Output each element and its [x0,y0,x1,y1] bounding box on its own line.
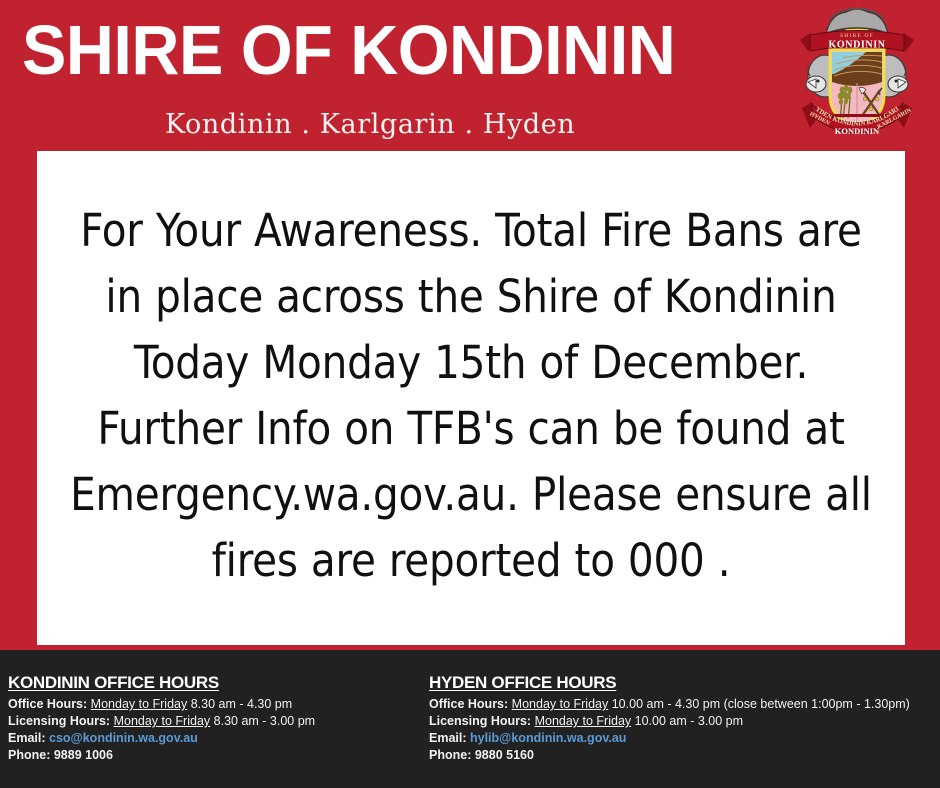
hyden-email-link[interactable]: hylib@kondinin.wa.gov.au [470,731,626,745]
kondinin-licensing-days: Monday to Friday [114,714,211,728]
notice-poster: SHIRE OF KONDININ Kondinin . Karlgarin .… [0,0,940,788]
kondinin-phone-number: 9889 1006 [54,748,113,762]
svg-text:KONDININ: KONDININ [835,126,880,136]
hyden-licensing-label: Licensing Hours: [429,714,531,728]
hyden-phone-label: Phone: [429,748,471,762]
kondinin-office-heading: KONDININ OFFICE HOURS [8,672,425,693]
hyden-email-label: Email: [429,731,467,745]
kondinin-licensing-hours-line: Licensing Hours: Monday to Friday 8.30 a… [8,713,425,730]
kondinin-email-line: Email: cso@kondinin.wa.gov.au [8,730,425,747]
kondinin-email-link[interactable]: cso@kondinin.wa.gov.au [49,731,198,745]
hyden-office-heading: HYDEN OFFICE HOURS [429,672,940,693]
hyden-licensing-days: Monday to Friday [535,714,632,728]
crest-top-banner: SHIRE OF KONDININ [800,31,914,52]
kondinin-office-block: KONDININ OFFICE HOURS Office Hours: Mond… [0,650,425,764]
hyden-phone-line: Phone: 9880 5160 [429,747,940,764]
kondinin-phone-line: Phone: 9889 1006 [8,747,425,764]
hyden-office-block: HYDEN OFFICE HOURS Office Hours: Monday … [425,650,940,764]
poster-footer: KONDININ OFFICE HOURS Office Hours: Mond… [0,650,940,788]
hyden-email-line: Email: hylib@kondinin.wa.gov.au [429,730,940,747]
hyden-licensing-hours-line: Licensing Hours: Monday to Friday 10.00 … [429,713,940,730]
hyden-office-hours-time: 10.00 am - 4.30 pm (close between 1:00pm… [612,697,910,711]
notice-card: For Your Awareness. Total Fire Bans are … [37,151,905,645]
kondinin-licensing-label: Licensing Hours: [8,714,110,728]
hyden-office-hours-line: Office Hours: Monday to Friday 10.00 am … [429,696,940,713]
kondinin-office-hours-line: Office Hours: Monday to Friday 8.30 am -… [8,696,425,713]
kondinin-office-hours-time: 8.30 am - 4.30 pm [191,697,292,711]
page-title: SHIRE OF KONDININ [22,8,675,92]
kondinin-phone-label: Phone: [8,748,50,762]
hyden-office-hours-days: Monday to Friday [512,697,609,711]
kondinin-office-hours-days: Monday to Friday [91,697,188,711]
hyden-office-hours-label: Office Hours: [429,697,508,711]
svg-text:SHIRE OF: SHIRE OF [840,33,874,39]
kondinin-email-label: Email: [8,731,46,745]
notice-message: For Your Awareness. Total Fire Bans are … [63,198,879,594]
hyden-licensing-time: 10.00 am - 3.00 pm [635,714,743,728]
brand-subtitle: Kondinin . Karlgarin . Hyden [165,108,575,142]
shire-crest-logo: SHIRE OF KONDININ [796,4,918,150]
kondinin-office-hours-label: Office Hours: [8,697,87,711]
hyden-phone-number: 9880 5160 [475,748,534,762]
kondinin-licensing-time: 8.30 am - 3.00 pm [214,714,315,728]
